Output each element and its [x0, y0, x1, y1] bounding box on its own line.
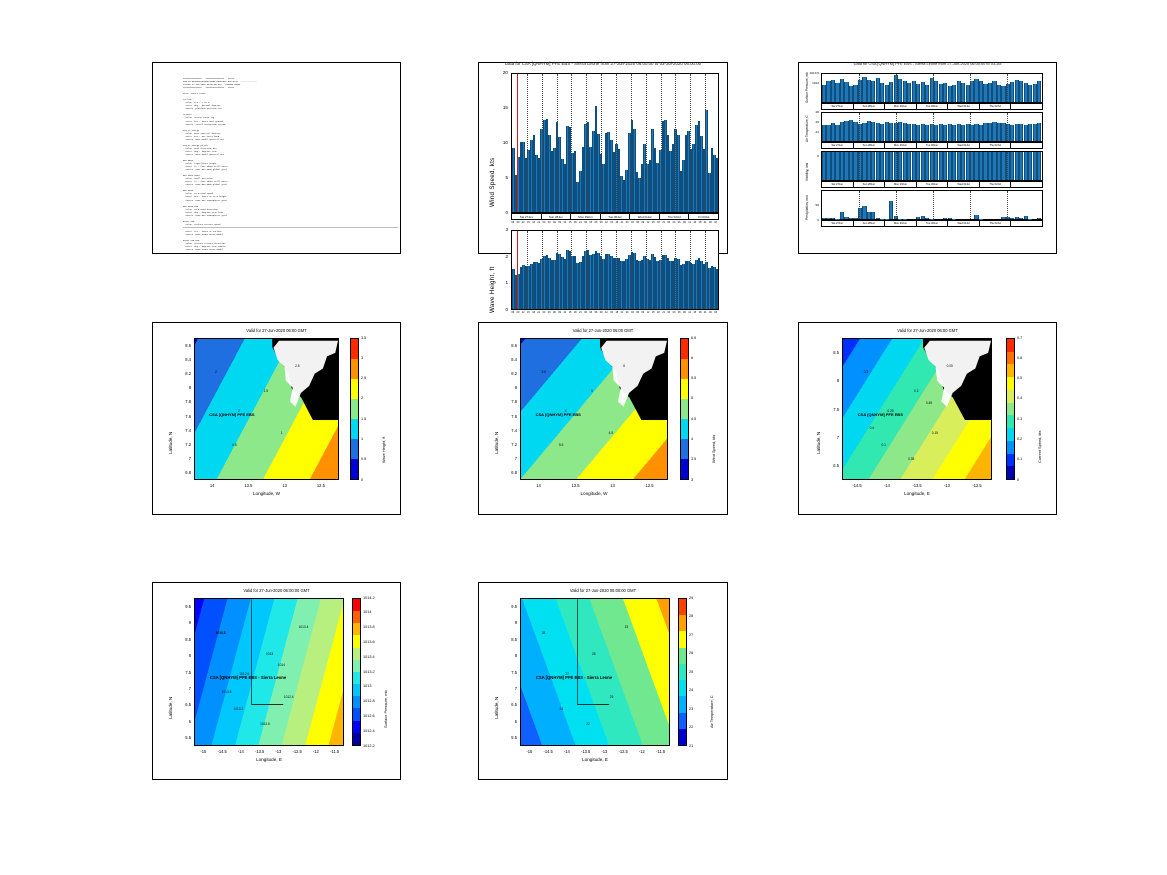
colorbar-segment — [679, 599, 686, 615]
y-tick-label: 7 — [824, 435, 839, 440]
hour-tick-label: 15 — [652, 221, 655, 224]
gridline — [601, 74, 602, 212]
y-tick-label: 5.5 — [176, 735, 191, 740]
colorbar-segment — [353, 733, 360, 745]
y-tick-label: 8 — [502, 385, 517, 390]
y-tick-label: 7 — [176, 456, 191, 461]
colorbar-tick-label: 3.5 — [361, 336, 366, 340]
y-tick-label: 6 — [176, 719, 191, 724]
contour-label: 0.1 — [881, 443, 885, 447]
y-tick-label: 7.8 — [502, 399, 517, 404]
bar — [1037, 152, 1041, 180]
gridline — [933, 113, 934, 141]
contour-label: 23 — [625, 625, 629, 629]
colorbar-tick-label: 2 — [361, 396, 363, 400]
date-cell: Sun 28Jun — [854, 221, 886, 226]
colorbar-tick-label: 4 — [691, 437, 693, 441]
gridline — [675, 74, 676, 212]
hour-tick-label: 21 — [579, 311, 582, 314]
gridline — [1007, 191, 1008, 219]
x-tick-label: 12.5 — [638, 483, 662, 488]
colorbar-segment — [1007, 415, 1014, 428]
colorbar-tick-label: 0.4 — [1017, 396, 1022, 400]
date-cell: Sun 28Jun — [854, 104, 886, 109]
x-axis-label: Longitude, E — [520, 757, 670, 762]
colorbar-tick-label: 22 — [689, 725, 693, 729]
gridline — [859, 74, 860, 102]
colorbar-segment — [681, 379, 688, 399]
hour-tick-label: 15 — [693, 221, 696, 224]
colorbar-tick-label: 1013 — [363, 684, 371, 688]
colorbar-tick-label: 0.5 — [1017, 376, 1022, 380]
colorbar-tick-label: 2.5 — [361, 376, 366, 380]
y-tick-label: 8.4 — [502, 357, 517, 362]
colorbar — [352, 598, 361, 746]
met-plot-area — [821, 190, 1043, 220]
hour-tick-label: 09 — [683, 311, 686, 314]
gridline — [661, 231, 662, 309]
colorbar-segment — [1007, 377, 1014, 390]
x-axis-label: Longitude, W — [520, 491, 668, 496]
date-cell: Mon 29Jun — [571, 214, 601, 219]
y-tick-label: 2 — [490, 254, 508, 259]
date-cell: Sat 27Jun — [822, 182, 854, 187]
hour-tick-label: 06 — [511, 311, 514, 314]
y-tick-label: 8 — [176, 653, 191, 658]
hour-tick-label: 18 — [532, 221, 535, 224]
contour-label: 28 — [542, 631, 546, 635]
date-cell: Fri 03Jul — [689, 214, 718, 219]
colorbar-segment — [681, 419, 688, 439]
colorbar-segment — [679, 680, 686, 696]
hour-tick-label: 06 — [553, 221, 556, 224]
hour-tick-label: 15 — [610, 221, 613, 224]
hour-tick-label: 18 — [574, 221, 577, 224]
y-tick-label: 8.5 — [824, 350, 839, 355]
x-tick-label: 13.5 — [236, 483, 260, 488]
colorbar-segment — [1007, 403, 1014, 416]
date-cell: Mon 29Jun — [885, 182, 917, 187]
x-tick-label: -11.5 — [649, 749, 673, 754]
y-tick-label: 5 — [490, 175, 508, 180]
y-tick-label: 6.5 — [824, 463, 839, 468]
gridline — [631, 74, 632, 212]
date-cell: Sat 27Jun — [822, 104, 854, 109]
hour-tick-label: 03 — [673, 221, 676, 224]
y-tick-label: 6.5 — [176, 702, 191, 707]
y-tick-label: 9.5 — [176, 604, 191, 609]
contour-label: 2.5 — [295, 364, 299, 368]
contour-label: 0.4 — [870, 426, 874, 430]
hour-tick-label: 03 — [631, 311, 634, 314]
hour-tick-label: 18 — [532, 311, 535, 314]
bar — [1037, 81, 1041, 102]
colorbar-segment — [353, 708, 360, 720]
hour-tick-label: 03 — [714, 221, 717, 224]
x-axis-label: Longitude, E — [194, 757, 344, 762]
date-cell: Sun 28Jun — [854, 182, 886, 187]
hour-tick-label: 21 — [704, 221, 707, 224]
y-tick-label: 8.5 — [176, 637, 191, 642]
date-cell: Mon 29Jun — [885, 221, 917, 226]
contour-label: 1014 — [278, 663, 285, 667]
y-tick-label: 7.2 — [176, 442, 191, 447]
wind-wave-chart-title: Data for CSA [QNHYM] PFE EBS - Sierra Le… — [479, 61, 727, 66]
hour-tick-label: 21 — [537, 311, 540, 314]
y-tick-label: 7.5 — [502, 670, 517, 675]
colorbar-tick-label: 0.3 — [1017, 417, 1022, 421]
hour-tick-label: 12 — [647, 221, 650, 224]
colorbar-segment — [681, 339, 688, 359]
contour-label: 0.45 — [926, 401, 932, 405]
bar — [1037, 218, 1041, 219]
y-tick-label: 7 — [176, 686, 191, 691]
x-axis-label: Longitude, W — [194, 491, 339, 496]
hour-tick-label: 06 — [636, 221, 639, 224]
colorbar-segment — [1007, 352, 1014, 365]
gridline — [859, 191, 860, 219]
y-tick-label: 8.2 — [502, 371, 517, 376]
bar — [1037, 123, 1041, 141]
hour-tick-label: 09 — [600, 311, 603, 314]
met-y-tick-label: 1013 — [806, 81, 819, 85]
colorbar-segment — [1007, 339, 1014, 352]
colorbar-tick-label: 28 — [689, 614, 693, 618]
met-y-axis-label: Visibility, nmi — [805, 163, 809, 181]
hour-tick-label: 21 — [621, 311, 624, 314]
gridline — [571, 231, 572, 309]
gridline — [542, 231, 543, 309]
date-cell: Sat 27Jun — [512, 214, 542, 219]
colorbar-tick-label: 3 — [361, 356, 363, 360]
colorbar-segment — [351, 439, 358, 459]
colorbar-segment — [1007, 428, 1014, 441]
colorbar-segment — [1007, 364, 1014, 377]
contour-label: 25 — [610, 695, 614, 699]
y-axis-label: Latitude, N — [494, 432, 499, 454]
contour-label: 4.5 — [609, 431, 613, 435]
gridline — [970, 152, 971, 180]
hour-tick-label: 12 — [522, 311, 525, 314]
colorbar-tick-label: 6.5 — [691, 336, 696, 340]
hour-tick-label: 12 — [605, 311, 608, 314]
hour-tick-label: 06 — [511, 221, 514, 224]
colorbar-tick-label: 29 — [689, 596, 693, 600]
gridline — [705, 74, 706, 212]
date-strip-upper: Sat 27JunSun 28JunMon 29JunTue 30JunWed … — [511, 213, 719, 220]
colorbar-tick-label: 5.5 — [691, 376, 696, 380]
hour-tick-label: 00 — [667, 221, 670, 224]
contour-label: 1013.8 — [222, 690, 232, 694]
contour-label: 5.5 — [559, 443, 563, 447]
map-title: Valid for 27-Jun-2020 06:00:00 GMT — [152, 588, 401, 593]
date-cell-pad — [1011, 182, 1042, 187]
colorbar-segment — [353, 672, 360, 684]
gridline — [690, 231, 691, 309]
met-plot-area — [821, 112, 1043, 142]
colorbar-tick-label: 1013.4 — [363, 655, 375, 659]
hour-tick-label: 09 — [641, 311, 644, 314]
hour-tick-label: 00 — [626, 221, 629, 224]
contour-label: 1013.2 — [233, 707, 243, 711]
colorbar-tick-label: 0 — [1017, 478, 1019, 482]
colorbar-segment — [679, 664, 686, 680]
colorbar-segment — [353, 623, 360, 635]
wave-height-map-plot-area: 221.510.52.5CSA [QNHYM] PFE EBS — [194, 338, 339, 480]
colorbar-segment — [351, 339, 358, 359]
colorbar-segment — [353, 648, 360, 660]
site-label: CSA [QNHYM] PFE EBS — [536, 412, 581, 417]
hour-tick-label: 03 — [714, 311, 717, 314]
met-date-strip: Sat 27JunSun 28JunMon 29JunTue 30JunWed … — [821, 103, 1043, 110]
hour-tick-label: 06 — [678, 311, 681, 314]
hour-tick-label: 18 — [699, 311, 702, 314]
colorbar-tick-label: 1013.6 — [363, 640, 375, 644]
colorbar-tick-label: 3 — [691, 478, 693, 482]
hour-tick-label: 21 — [662, 221, 665, 224]
colorbar-segment — [1007, 441, 1014, 454]
y-tick-label: 6 — [502, 719, 517, 724]
date-cell-pad — [1011, 221, 1042, 226]
x-tick-label: 13.5 — [564, 483, 588, 488]
date-cell: Tue 30Jun — [917, 143, 949, 148]
colorbar-tick-label: 21 — [689, 744, 693, 748]
site-label: CSA [QNHYM] PFE EBS — [858, 412, 903, 417]
gridline — [1007, 152, 1008, 180]
colorbar-tick-label: 1012.4 — [363, 729, 375, 733]
hour-tick-label: 21 — [579, 221, 582, 224]
y-tick-label: 7.5 — [824, 407, 839, 412]
hour-tick-label: 00 — [626, 311, 629, 314]
bulletin-text-panel: =============== =============== =====MSG… — [152, 62, 401, 254]
x-tick-label: -11.5 — [323, 749, 347, 754]
x-tick-label: 14 — [527, 483, 551, 488]
contour-label: 0.05 — [947, 364, 953, 368]
doc-line: Value surface current speed — [183, 223, 400, 226]
gridline — [1007, 74, 1008, 102]
y-tick-label: 7.6 — [176, 414, 191, 419]
gridline — [933, 191, 934, 219]
gridline — [690, 74, 691, 212]
gridline — [527, 74, 528, 212]
bulletin-text-body: =============== =============== =====MSG… — [183, 77, 400, 251]
met-y-tick-label: 1013.5 — [806, 71, 819, 75]
colorbar-tick-label: 0.2 — [1017, 437, 1022, 441]
hour-tick-label: 00 — [667, 311, 670, 314]
date-cell: Wed 01Jul — [948, 182, 980, 187]
colorbar-label: Current Speed, kts — [1037, 431, 1042, 463]
gridline — [970, 191, 971, 219]
colorbar — [680, 338, 689, 480]
y-tick-label: 0 — [490, 307, 508, 312]
contour-label: 0.15 — [932, 431, 938, 435]
map-title: Valid for 27-Jun-2020 06:00 GMT — [152, 328, 401, 333]
colorbar-segment — [679, 631, 686, 647]
hour-tick-label: 21 — [704, 311, 707, 314]
bar — [716, 158, 719, 213]
site-label: CSA [QNHYM] PFE EBS — [209, 412, 254, 417]
hour-tick-label: 09 — [641, 221, 644, 224]
gridline — [896, 191, 897, 219]
y-tick-label: 0 — [490, 210, 508, 215]
y-axis-label: Latitude, N — [168, 432, 173, 454]
met-chart-title: Data for CSA [QNHYM] PFE EBS - Sierra Le… — [799, 61, 1056, 66]
wind-speed-plot-area — [511, 73, 719, 213]
date-cell: Sat 27Jun — [822, 143, 854, 148]
gridline — [646, 74, 647, 212]
date-cell: Thu 02Jul — [980, 143, 1012, 148]
colorbar-tick-label: 6 — [691, 356, 693, 360]
date-cell-pad — [1011, 143, 1042, 148]
colorbar-segment — [679, 729, 686, 745]
met-plot-area — [821, 73, 1043, 103]
colorbar-tick-label: 27 — [689, 633, 693, 637]
gridline — [1007, 113, 1008, 141]
contour-label: 0.5 — [232, 443, 236, 447]
gridline — [527, 231, 528, 309]
gridline — [631, 231, 632, 309]
met-y-tick-label: 50 — [806, 203, 819, 207]
colorbar-segment — [1007, 390, 1014, 403]
contour-label: 1013.6 — [260, 722, 270, 726]
colorbar-segment — [353, 599, 360, 611]
hour-tick-label: 06 — [553, 311, 556, 314]
hour-tick-label: 00 — [709, 311, 712, 314]
hour-tick-label: 09 — [558, 311, 561, 314]
hour-tick-label: 15 — [693, 311, 696, 314]
colorbar-label: Wave Height, ft — [381, 437, 386, 463]
x-tick-label: -14 — [875, 483, 899, 488]
met-parameters-chart-panel: Data for CSA [QNHYM] PFE EBS - Sierra Le… — [798, 62, 1057, 254]
met-y-tick-label: 28 — [806, 110, 819, 114]
hour-tick-label: 00 — [709, 221, 712, 224]
hour-tick-label: 18 — [574, 311, 577, 314]
gridline — [616, 231, 617, 309]
y-tick-label: 7.6 — [502, 414, 517, 419]
colorbar-tick-label: 1013.8 — [363, 625, 375, 629]
y-tick-label: 8.2 — [176, 371, 191, 376]
doc-divider — [183, 227, 398, 228]
gridline — [586, 74, 587, 212]
colorbar-segment — [681, 439, 688, 459]
gridline — [896, 113, 897, 141]
x-tick-label: -13.5 — [905, 483, 929, 488]
date-cell-pad — [1011, 104, 1042, 109]
colorbar-tick-label: 1012.8 — [363, 699, 375, 703]
x-tick-label: 14 — [200, 483, 224, 488]
wave-height-plot-area — [511, 230, 719, 310]
colorbar-tick-label: 0.6 — [1017, 356, 1022, 360]
date-cell: Tue 30Jun — [917, 104, 949, 109]
hour-tick-label: 09 — [517, 311, 520, 314]
hour-tick-label: 12 — [563, 311, 566, 314]
surface-pressure-map-plot-area: 1012.81012.610131012.41013.21013.41013.6… — [194, 598, 344, 746]
colorbar-tick-label: 1.5 — [361, 417, 366, 421]
contour-label: 0.3 — [864, 370, 868, 374]
colorbar-tick-label: 0 — [361, 478, 363, 482]
colorbar-segment — [679, 648, 686, 664]
gridline — [557, 231, 558, 309]
y-tick-label: 9 — [502, 620, 517, 625]
colorbar-label: Air Temperature, C — [709, 696, 714, 729]
hour-tick-label: 03 — [548, 311, 551, 314]
colorbar-segment — [679, 615, 686, 631]
y-tick-label: 7.4 — [176, 428, 191, 433]
y-tick-label: 8.6 — [176, 343, 191, 348]
contour-label: 1.5 — [264, 389, 268, 393]
hour-tick-label: 15 — [569, 221, 572, 224]
colorbar-segment — [681, 459, 688, 479]
contour-label: 26 — [592, 652, 596, 656]
date-cell: Tue 30Jun — [601, 214, 631, 219]
colorbar — [678, 598, 687, 746]
date-cell: Wed 01Jul — [948, 143, 980, 148]
hour-tick-label: 12 — [563, 221, 566, 224]
y-tick-label: 10 — [490, 140, 508, 145]
colorbar-tick-label: 4.5 — [691, 417, 696, 421]
gridline — [661, 74, 662, 212]
met-y-tick-label: 26 — [806, 120, 819, 124]
hour-tick-label: 03 — [589, 221, 592, 224]
met-plot-area — [821, 151, 1043, 181]
y-tick-label: 8.4 — [176, 357, 191, 362]
forecast-report-page: =============== =============== =====MSG… — [0, 0, 1167, 875]
y-tick-label: 9.5 — [502, 604, 517, 609]
hour-tick-label: 12 — [647, 311, 650, 314]
met-y-tick-label: 5 — [806, 154, 819, 158]
y-tick-label: 8 — [824, 378, 839, 383]
gridline — [557, 74, 558, 212]
date-cell: Thu 02Jul — [660, 214, 690, 219]
y-tick-label: 7.2 — [502, 442, 517, 447]
gridline — [933, 74, 934, 102]
y-tick-label: 7 — [502, 456, 517, 461]
bar — [716, 269, 719, 309]
gridline — [970, 113, 971, 141]
gridline — [601, 231, 602, 309]
y-tick-label: 7.4 — [502, 428, 517, 433]
contour-label: 22 — [586, 722, 590, 726]
y-tick-label: 8.6 — [502, 343, 517, 348]
date-cell: Sun 28Jun — [542, 214, 572, 219]
colorbar-segment — [351, 359, 358, 379]
colorbar-segment — [681, 359, 688, 379]
colorbar-segment — [351, 399, 358, 419]
y-tick-label: 15 — [490, 105, 508, 110]
y-tick-label: 6.5 — [502, 702, 517, 707]
y-tick-label: 7 — [502, 686, 517, 691]
site-label: CSA [QNHYM] PFE EBS - Sierra Leone — [536, 675, 612, 680]
contour-label: 3.5 — [541, 370, 545, 374]
gridline — [933, 152, 934, 180]
colorbar-tick-label: 5 — [691, 396, 693, 400]
hour-tick-label: 00 — [543, 221, 546, 224]
y-tick-label: 8 — [502, 653, 517, 658]
hour-tick-label: 00 — [584, 311, 587, 314]
x-tick-label: 13 — [601, 483, 625, 488]
colorbar — [1006, 338, 1015, 480]
colorbar-segment — [351, 419, 358, 439]
colorbar-tick-label: 1014.2 — [363, 596, 375, 600]
current-speed-map-plot-area: 0.30.250.20.150.10.050.350.40.45CSA [QNH… — [842, 338, 992, 480]
y-tick-label: 7.5 — [176, 670, 191, 675]
y-tick-label: 8 — [176, 385, 191, 390]
hour-tick-label: 18 — [615, 221, 618, 224]
y-tick-label: 20 — [490, 70, 508, 75]
hour-tick-label: 21 — [537, 221, 540, 224]
colorbar-segment — [681, 399, 688, 419]
gridline — [542, 74, 543, 212]
